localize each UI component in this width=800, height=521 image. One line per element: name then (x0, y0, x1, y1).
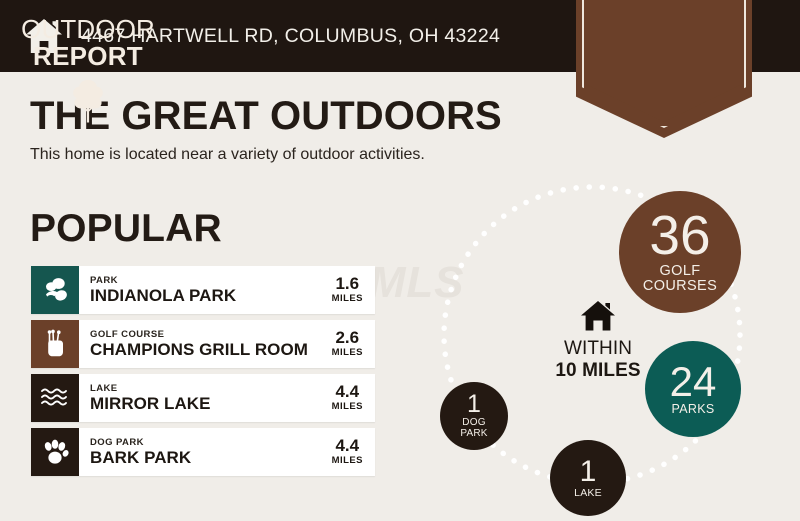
stat-label-line-2: PARK (460, 429, 487, 440)
list-item-text: DOG PARK BARK PARK (79, 428, 326, 476)
distance-unit: MILES (332, 401, 363, 414)
stat-count: 1 (580, 457, 597, 486)
list-item-distance: 4.4 MILES (326, 428, 375, 476)
distance-unit: MILES (332, 455, 363, 468)
list-item-name: MIRROR LAKE (90, 394, 326, 413)
popular-heading: POPULAR (30, 209, 222, 248)
distance-value: 1.6 (335, 275, 359, 293)
list-item-category: LAKE (90, 383, 326, 395)
distance-value: 4.4 (335, 383, 359, 401)
stat-circle-golf-courses[interactable]: 36 GOLF COURSES (619, 191, 741, 313)
badge-title: OUTDOOR REPORT (0, 16, 176, 69)
stat-label-line-1: GOLF (660, 264, 701, 280)
distance-value: 4.4 (335, 437, 359, 455)
outdoor-report-badge (576, 0, 752, 138)
list-item-icon-tile (31, 266, 79, 314)
list-item-name: BARK PARK (90, 448, 326, 467)
distance-unit: MILES (332, 347, 363, 360)
list-item-icon-tile (31, 374, 79, 422)
distance-unit: MILES (332, 293, 363, 306)
center-line-2: 10 MILES (518, 360, 678, 382)
list-item-distance: 4.4 MILES (326, 374, 375, 422)
stat-circle-dog-park[interactable]: 1 DOG PARK (440, 382, 508, 450)
park-icon (40, 275, 70, 305)
list-item-text: GOLF COURSE CHAMPIONS GRILL ROOM (79, 320, 326, 368)
home-icon (580, 300, 616, 332)
page-subtitle: This home is located near a variety of o… (30, 146, 425, 164)
stat-label-line-2: COURSES (643, 279, 717, 295)
badge-line-1: OUTDOOR (0, 16, 176, 43)
popular-list: PARK INDIANOLA PARK 1.6 MILES (31, 266, 375, 482)
paw-icon (40, 437, 70, 467)
badge-tree (0, 78, 176, 129)
list-item[interactable]: DOG PARK BARK PARK 4.4 MILES (31, 428, 375, 476)
stat-label-line-1: LAKE (574, 488, 602, 499)
distance-value: 2.6 (335, 329, 359, 347)
stat-count: 1 (467, 392, 481, 417)
diagram-center-label: WITHIN 10 MILES (518, 300, 678, 383)
list-item-category: GOLF COURSE (90, 329, 326, 341)
tree-icon (68, 78, 108, 124)
stat-count: 36 (649, 209, 710, 263)
list-item-category: PARK (90, 275, 326, 287)
badge-line-2: REPORT (0, 43, 176, 70)
list-item-category: DOG PARK (90, 437, 326, 449)
badge-fill (586, 0, 742, 122)
list-item-text: PARK INDIANOLA PARK (79, 266, 326, 314)
waves-icon (40, 385, 70, 411)
list-item-distance: 1.6 MILES (326, 266, 375, 314)
list-item[interactable]: LAKE MIRROR LAKE 4.4 MILES (31, 374, 375, 422)
list-item[interactable]: GOLF COURSE CHAMPIONS GRILL ROOM 2.6 MIL… (31, 320, 375, 368)
golf-bag-icon (40, 329, 70, 359)
list-item-name: INDIANOLA PARK (90, 286, 326, 305)
infographic-canvas: 4467 HARTWELL RD, COLUMBUS, OH 43224 OUT… (0, 0, 800, 521)
stat-label-line-1: PARKS (671, 403, 714, 417)
list-item-icon-tile (31, 428, 79, 476)
list-item-text: LAKE MIRROR LAKE (79, 374, 326, 422)
list-item-name: CHAMPIONS GRILL ROOM (90, 340, 326, 359)
list-item-distance: 2.6 MILES (326, 320, 375, 368)
list-item[interactable]: PARK INDIANOLA PARK 1.6 MILES (31, 266, 375, 314)
list-item-icon-tile (31, 320, 79, 368)
stat-circle-lake[interactable]: 1 LAKE (550, 440, 626, 516)
center-line-1: WITHIN (518, 338, 678, 360)
within-10-miles-diagram: 36 GOLF COURSES 24 PARKS 1 DOG PARK 1 LA… (400, 150, 800, 521)
